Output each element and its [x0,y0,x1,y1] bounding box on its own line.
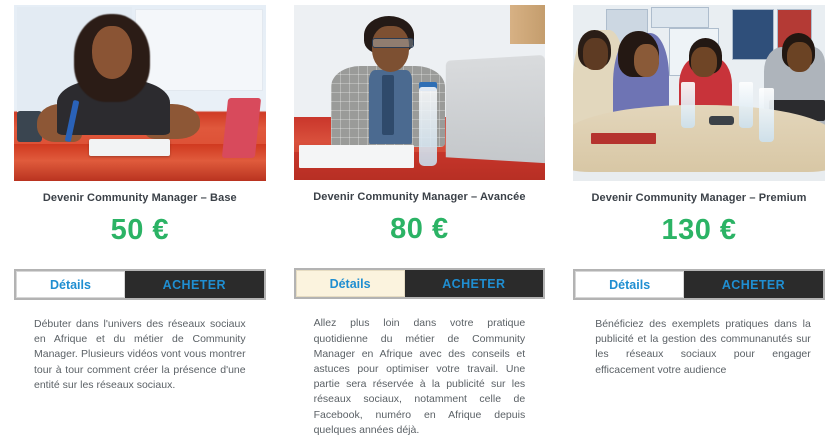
course-actions: Détails ACHETER [14,269,266,300]
course-title: Devenir Community Manager – Base [10,191,270,205]
course-price: 80 € [280,212,560,246]
buy-button[interactable]: ACHETER [405,270,544,297]
course-description: Débuter dans l'univers des réseaux socia… [34,317,246,393]
product-card-grid: Devenir Community Manager – Base 50 € Dé… [0,0,839,438]
product-card: Devenir Community Manager – Avancée 80 €… [280,0,560,438]
course-description: Allez plus loin dans votre pratique quot… [314,316,526,438]
course-thumbnail-premium[interactable] [573,5,825,181]
product-card: Devenir Community Manager – Base 50 € Dé… [0,0,280,438]
course-title: Devenir Community Manager – Premium [569,191,829,205]
course-description: Bénéficiez des exemplets pratiques dans … [595,317,811,378]
details-button[interactable]: Détails [296,270,405,297]
course-photo-image [14,5,266,181]
buy-button[interactable]: ACHETER [684,271,823,298]
course-price: 50 € [0,213,280,247]
buy-button[interactable]: ACHETER [125,271,264,298]
course-price: 130 € [559,213,839,247]
course-photo-image [294,5,546,180]
course-thumbnail-avancee[interactable] [294,5,546,180]
details-button[interactable]: Détails [16,271,125,298]
course-thumbnail-base[interactable] [14,5,266,181]
course-actions: Détails ACHETER [294,268,546,299]
course-actions: Détails ACHETER [573,269,825,300]
details-button[interactable]: Détails [575,271,684,298]
product-card: Devenir Community Manager – Premium 130 … [559,0,839,438]
course-photo-image [573,5,825,181]
course-title: Devenir Community Manager – Avancée [290,190,550,204]
